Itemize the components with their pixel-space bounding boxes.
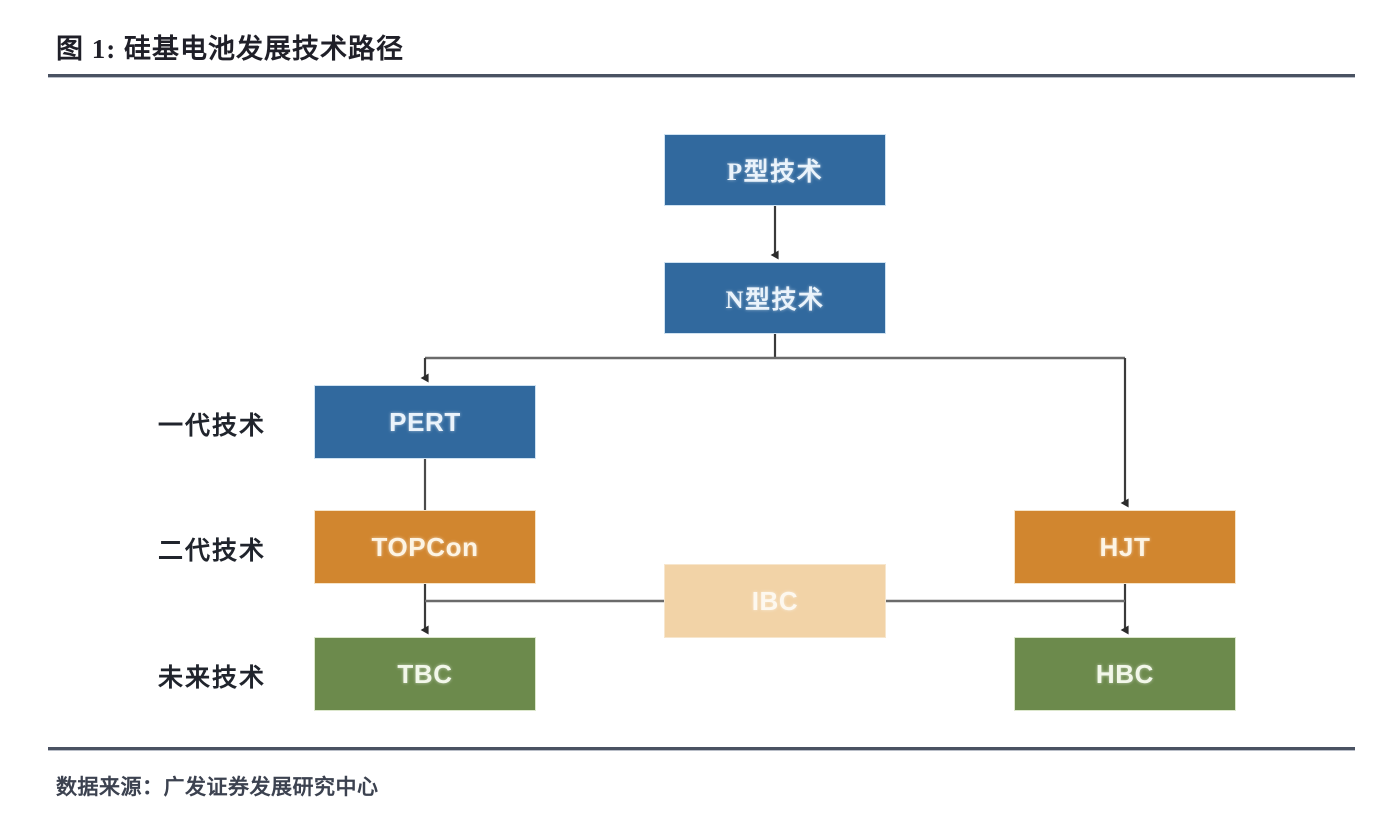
- row-label-future: 未来技术: [158, 658, 266, 694]
- node-hjt[interactable]: HJT: [1015, 511, 1235, 583]
- node-hbc[interactable]: HBC: [1015, 638, 1235, 710]
- node-n-type[interactable]: N型技术: [665, 263, 885, 333]
- diagram-canvas: 一代技术 二代技术 未来技术 P型技术 N型技术 PERT TOPCon TBC…: [0, 0, 1399, 818]
- node-p-type[interactable]: P型技术: [665, 135, 885, 205]
- node-topcon[interactable]: TOPCon: [315, 511, 535, 583]
- footer-divider: [48, 747, 1355, 750]
- row-label-gen2: 二代技术: [158, 531, 266, 567]
- figure-source: 数据来源：广发证券发展研究中心: [56, 771, 379, 801]
- node-tbc[interactable]: TBC: [315, 638, 535, 710]
- node-ibc[interactable]: IBC: [665, 565, 885, 637]
- row-label-gen1: 一代技术: [158, 406, 266, 442]
- node-pert[interactable]: PERT: [315, 386, 535, 458]
